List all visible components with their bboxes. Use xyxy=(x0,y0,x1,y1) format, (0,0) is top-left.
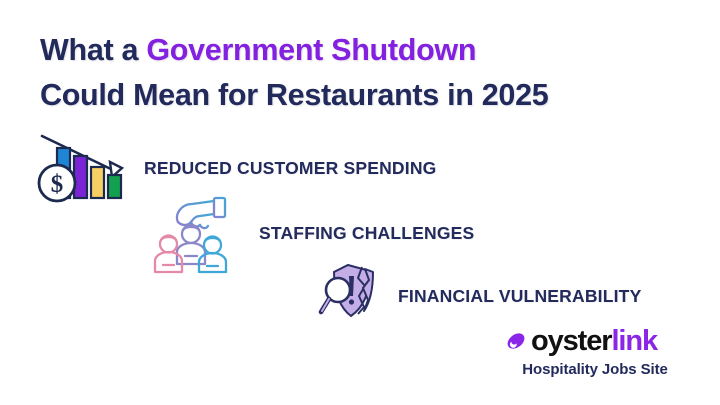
oysterlink-shell-icon xyxy=(505,330,527,352)
logo-wordmark: oysterlink xyxy=(531,326,657,356)
declining-bar-chart-dollar-icon: $ xyxy=(36,134,136,206)
headline-line-1: What a Government Shutdown xyxy=(40,28,680,73)
headline-line-2: Could Mean for Restaurants in 2025 xyxy=(40,73,680,118)
headline-accent-phrase: Government Shutdown xyxy=(146,33,476,67)
hiring-hand-people-icon xyxy=(152,192,252,274)
cracked-shield-magnifier-icon xyxy=(318,262,388,324)
feature-label-reduced-customer-spending: REDUCED CUSTOMER SPENDING xyxy=(144,158,437,179)
page-title: What a Government Shutdown Could Mean fo… xyxy=(40,28,680,118)
svg-text:$: $ xyxy=(51,171,64,198)
oysterlink-logo[interactable]: oysterlink Hospitality Jobs Site xyxy=(505,324,685,386)
logo-word-oyster: oyster xyxy=(531,325,611,357)
logo-row: oysterlink xyxy=(505,324,685,358)
feature-label-staffing-challenges: STAFFING CHALLENGES xyxy=(259,223,474,244)
logo-word-link: link xyxy=(611,325,657,357)
slide-canvas: What a Government Shutdown Could Mean fo… xyxy=(0,0,720,405)
headline-line-1-plain: What a xyxy=(40,33,146,67)
feature-label-financial-vulnerability: FINANCIAL VULNERABILITY xyxy=(398,286,641,307)
logo-tagline: Hospitality Jobs Site xyxy=(505,361,685,378)
